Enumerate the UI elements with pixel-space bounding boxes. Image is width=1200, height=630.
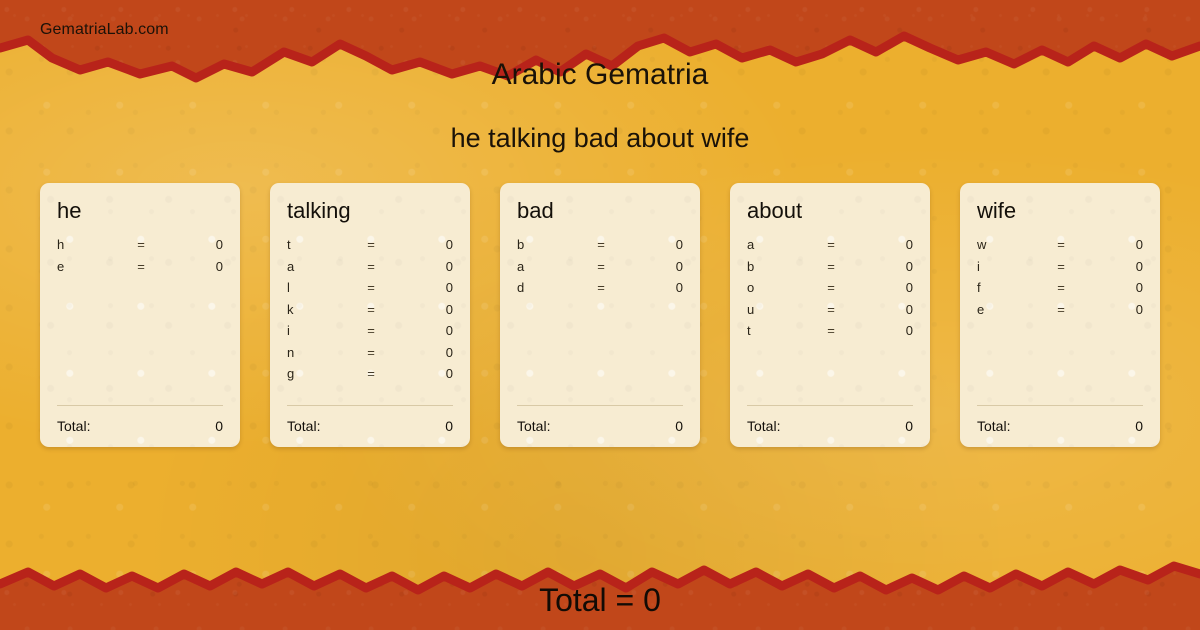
equals-sign: = <box>351 366 391 381</box>
letter-char: e <box>57 259 121 274</box>
word-total-row: Total:0 <box>517 406 683 447</box>
letter-value-list: b=0a=0d=0 <box>517 237 683 405</box>
letter-value-row: u=0 <box>747 302 913 324</box>
letter-char: o <box>747 280 811 295</box>
letter-value: 0 <box>391 323 453 338</box>
word-card: badb=0a=0d=0Total:0 <box>500 183 700 447</box>
letter-value: 0 <box>391 302 453 317</box>
letter-value: 0 <box>391 237 453 252</box>
letter-value: 0 <box>161 259 223 274</box>
equals-sign: = <box>351 323 391 338</box>
word-total-row: Total:0 <box>287 406 453 447</box>
equals-sign: = <box>351 237 391 252</box>
word-total-value: 0 <box>675 418 683 434</box>
word-card-title: bad <box>517 199 683 223</box>
letter-value: 0 <box>851 259 913 274</box>
word-total-label: Total: <box>517 418 675 434</box>
letter-value-row: t=0 <box>287 237 453 259</box>
letter-value-row: e=0 <box>57 259 223 281</box>
letter-value-row: a=0 <box>287 259 453 281</box>
word-total-row: Total:0 <box>747 406 913 447</box>
word-total-label: Total: <box>57 418 215 434</box>
letter-char: b <box>517 237 581 252</box>
letter-value-row: k=0 <box>287 302 453 324</box>
equals-sign: = <box>351 259 391 274</box>
letter-char: w <box>977 237 1041 252</box>
letter-value: 0 <box>621 259 683 274</box>
letter-value-row: i=0 <box>287 323 453 345</box>
letter-value-row: g=0 <box>287 366 453 388</box>
equals-sign: = <box>811 280 851 295</box>
letter-value-row: b=0 <box>517 237 683 259</box>
letter-value-row: l=0 <box>287 280 453 302</box>
word-card: talkingt=0a=0l=0k=0i=0n=0g=0Total:0 <box>270 183 470 447</box>
phrase-text: he talking bad about wife <box>0 123 1200 154</box>
gematria-result-card: GematriaLab.com Arabic Gematria he talki… <box>0 0 1200 630</box>
letter-char: e <box>977 302 1041 317</box>
equals-sign: = <box>581 259 621 274</box>
equals-sign: = <box>121 259 161 274</box>
equals-sign: = <box>581 237 621 252</box>
grand-total: Total = 0 <box>0 582 1200 619</box>
equals-sign: = <box>351 345 391 360</box>
letter-value-row: f=0 <box>977 280 1143 302</box>
letter-value: 0 <box>391 280 453 295</box>
letter-value-row: n=0 <box>287 345 453 367</box>
letter-value-list: t=0a=0l=0k=0i=0n=0g=0 <box>287 237 453 405</box>
letter-value-list: h=0e=0 <box>57 237 223 405</box>
word-total-value: 0 <box>445 418 453 434</box>
letter-value-row: h=0 <box>57 237 223 259</box>
word-card-title: wife <box>977 199 1143 223</box>
equals-sign: = <box>1041 237 1081 252</box>
letter-char: i <box>287 323 351 338</box>
letter-value: 0 <box>391 259 453 274</box>
equals-sign: = <box>121 237 161 252</box>
letter-value-list: a=0b=0o=0u=0t=0 <box>747 237 913 405</box>
equals-sign: = <box>581 280 621 295</box>
letter-value-list: w=0i=0f=0e=0 <box>977 237 1143 405</box>
letter-char: b <box>747 259 811 274</box>
word-total-row: Total:0 <box>57 406 223 447</box>
letter-char: f <box>977 280 1041 295</box>
letter-value-row: d=0 <box>517 280 683 302</box>
letter-value-row: a=0 <box>517 259 683 281</box>
letter-char: n <box>287 345 351 360</box>
letter-char: u <box>747 302 811 317</box>
letter-char: i <box>977 259 1041 274</box>
letter-char: a <box>287 259 351 274</box>
letter-value: 0 <box>1081 237 1143 252</box>
letter-char: d <box>517 280 581 295</box>
word-card-title: he <box>57 199 223 223</box>
equals-sign: = <box>811 302 851 317</box>
word-total-label: Total: <box>977 418 1135 434</box>
word-card: heh=0e=0Total:0 <box>40 183 240 447</box>
letter-char: l <box>287 280 351 295</box>
letter-value: 0 <box>1081 302 1143 317</box>
equals-sign: = <box>1041 259 1081 274</box>
letter-value-row: o=0 <box>747 280 913 302</box>
letter-value-row: a=0 <box>747 237 913 259</box>
letter-value: 0 <box>1081 280 1143 295</box>
letter-value-row: b=0 <box>747 259 913 281</box>
word-total-value: 0 <box>215 418 223 434</box>
word-card: wifew=0i=0f=0e=0Total:0 <box>960 183 1160 447</box>
letter-char: h <box>57 237 121 252</box>
site-logo[interactable]: GematriaLab.com <box>40 21 169 39</box>
equals-sign: = <box>811 259 851 274</box>
letter-value-row: i=0 <box>977 259 1143 281</box>
letter-char: g <box>287 366 351 381</box>
equals-sign: = <box>1041 302 1081 317</box>
equals-sign: = <box>811 237 851 252</box>
letter-char: a <box>747 237 811 252</box>
letter-value: 0 <box>851 237 913 252</box>
word-total-value: 0 <box>1135 418 1143 434</box>
equals-sign: = <box>811 323 851 338</box>
word-total-label: Total: <box>287 418 445 434</box>
letter-char: t <box>287 237 351 252</box>
letter-value: 0 <box>391 366 453 381</box>
word-card-title: talking <box>287 199 453 223</box>
word-total-value: 0 <box>905 418 913 434</box>
letter-value: 0 <box>1081 259 1143 274</box>
word-card-title: about <box>747 199 913 223</box>
letter-char: k <box>287 302 351 317</box>
word-card-list: heh=0e=0Total:0talkingt=0a=0l=0k=0i=0n=0… <box>40 183 1160 447</box>
letter-value: 0 <box>851 280 913 295</box>
letter-value-row: t=0 <box>747 323 913 345</box>
word-total-label: Total: <box>747 418 905 434</box>
letter-char: t <box>747 323 811 338</box>
letter-value-row: w=0 <box>977 237 1143 259</box>
word-card: abouta=0b=0o=0u=0t=0Total:0 <box>730 183 930 447</box>
equals-sign: = <box>1041 280 1081 295</box>
letter-value: 0 <box>851 302 913 317</box>
letter-value-row: e=0 <box>977 302 1143 324</box>
equals-sign: = <box>351 302 391 317</box>
letter-value: 0 <box>161 237 223 252</box>
page-title: Arabic Gematria <box>0 58 1200 92</box>
letter-value: 0 <box>851 323 913 338</box>
equals-sign: = <box>351 280 391 295</box>
letter-char: a <box>517 259 581 274</box>
letter-value: 0 <box>391 345 453 360</box>
word-total-row: Total:0 <box>977 406 1143 447</box>
letter-value: 0 <box>621 237 683 252</box>
letter-value: 0 <box>621 280 683 295</box>
